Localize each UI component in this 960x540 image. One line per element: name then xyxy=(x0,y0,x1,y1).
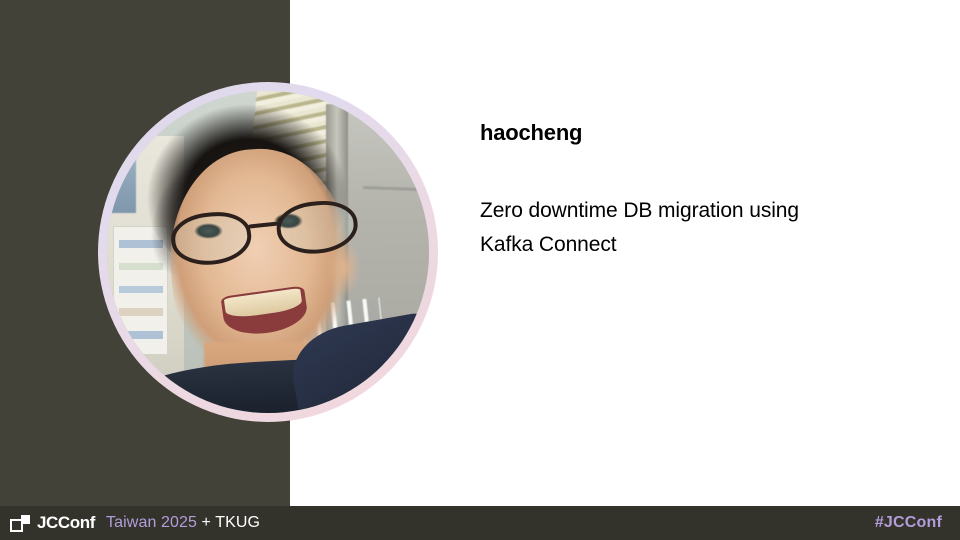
footer-tagline-accent: Taiwan 2025 xyxy=(106,514,197,531)
talk-title-line-2: Kafka Connect xyxy=(480,228,910,262)
footer-tagline: Taiwan 2025 + TKUG xyxy=(106,514,260,532)
speaker-slide: haocheng Zero downtime DB migration usin… xyxy=(0,0,960,540)
footer-hashtag: #JCConf xyxy=(875,514,942,532)
talk-title: Zero downtime DB migration using Kafka C… xyxy=(480,194,910,262)
footer-tagline-rest: + TKUG xyxy=(197,514,260,531)
speaker-info: haocheng Zero downtime DB migration usin… xyxy=(480,120,910,262)
avatar-photo xyxy=(107,91,429,413)
speaker-name: haocheng xyxy=(480,120,910,146)
jcconf-squares-icon xyxy=(10,515,30,532)
photo-window xyxy=(107,143,136,214)
footer-brand: JCConf Taiwan 2025 + TKUG xyxy=(10,513,260,533)
talk-title-line-1: Zero downtime DB migration using xyxy=(480,194,910,228)
footer-bar: JCConf Taiwan 2025 + TKUG #JCConf xyxy=(0,506,960,540)
jcconf-wordmark: JCConf xyxy=(37,513,95,533)
avatar xyxy=(98,82,438,422)
